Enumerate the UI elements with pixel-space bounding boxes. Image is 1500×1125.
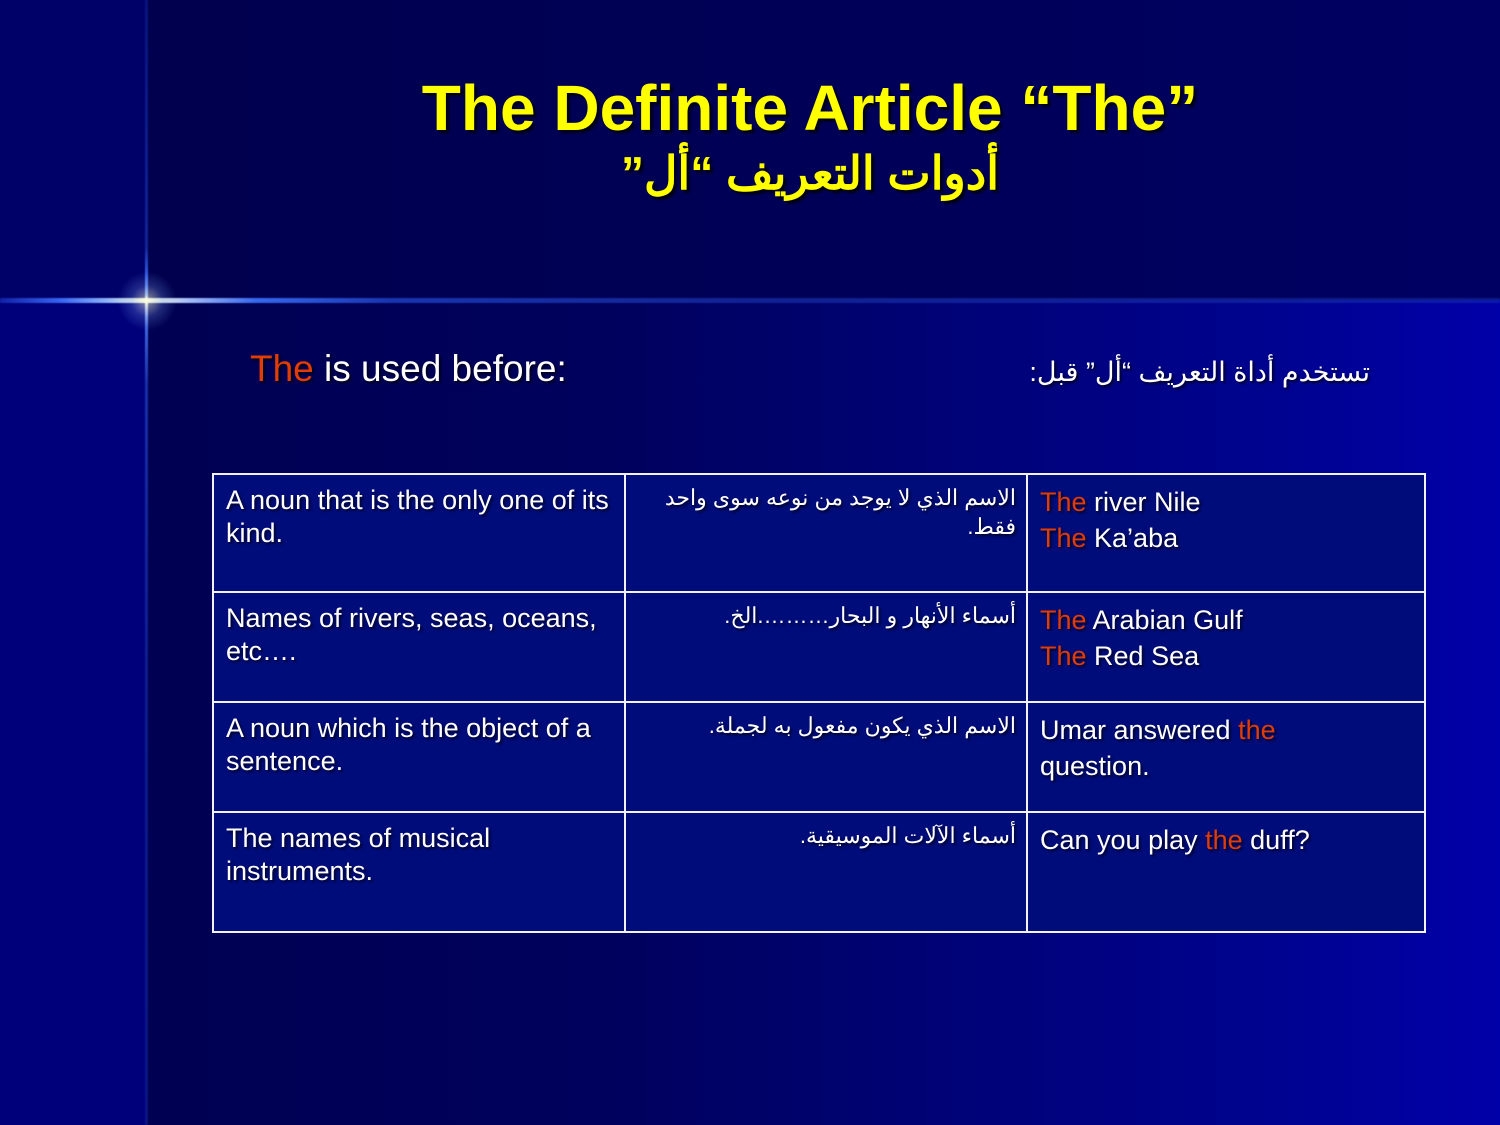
example-pre: Umar answered <box>1040 715 1238 745</box>
example-line: The Arabian Gulf <box>1040 602 1414 638</box>
example-highlight: the <box>1238 715 1276 745</box>
rule-arabic: الاسم الذي يكون مفعول به لجملة. <box>625 702 1027 812</box>
example-line: The river Nile <box>1040 484 1414 520</box>
example-highlight: The <box>1040 641 1087 671</box>
table-row: A noun which is the object of a sentence… <box>213 702 1425 812</box>
rule-english: Names of rivers, seas, oceans, etc…. <box>213 592 625 702</box>
rule-english: A noun which is the object of a sentence… <box>213 702 625 812</box>
example-line: The Red Sea <box>1040 638 1414 674</box>
page-title: The Definite Article “The” <box>160 76 1460 141</box>
rule-example: The river Nile The Ka’aba <box>1027 474 1425 592</box>
example-highlight: The <box>1040 487 1087 517</box>
example-line: Can you play the duff? <box>1040 822 1414 858</box>
intro-row: The is used before: تستخدم أداة التعريف … <box>250 348 1370 390</box>
rule-english: A noun that is the only one of its kind. <box>213 474 625 592</box>
decorative-star-glow <box>118 272 176 330</box>
example-rest: river Nile <box>1087 487 1201 517</box>
intro-text-english: The is used before: <box>250 348 567 390</box>
example-highlight: The <box>1040 523 1087 553</box>
rule-arabic: الاسم الذي لا يوجد من نوعه سوى واحد فقط. <box>625 474 1027 592</box>
rule-example: The Arabian Gulf The Red Sea <box>1027 592 1425 702</box>
example-highlight: the <box>1205 825 1243 855</box>
example-highlight: The <box>1040 605 1087 635</box>
intro-text-arabic: تستخدم أداة التعريف “أل” قبل: <box>1029 357 1370 388</box>
intro-rest: is used before: <box>314 348 567 389</box>
example-line: Umar answered the <box>1040 712 1414 748</box>
slide: The Definite Article “The” أدوات التعريف… <box>0 0 1500 1125</box>
rule-example: Can you play the duff? <box>1027 812 1425 932</box>
decorative-vertical-beam <box>145 0 148 1125</box>
rule-arabic: أسماء الآلات الموسيقية. <box>625 812 1027 932</box>
example-rest: Red Sea <box>1087 641 1200 671</box>
example-line: question. <box>1040 748 1414 784</box>
rule-example: Umar answered the question. <box>1027 702 1425 812</box>
example-line: The Ka’aba <box>1040 520 1414 556</box>
page-title-arabic: أدوات التعريف “أل” <box>160 145 1460 203</box>
intro-highlight-the: The <box>250 348 314 389</box>
rule-english: The names of musical instruments. <box>213 812 625 932</box>
decorative-horizontal-beam <box>0 298 1500 303</box>
table-row: A noun that is the only one of its kind.… <box>213 474 1425 592</box>
example-pre: question. <box>1040 751 1150 781</box>
table-row: Names of rivers, seas, oceans, etc…. أسم… <box>213 592 1425 702</box>
rules-table: A noun that is the only one of its kind.… <box>212 473 1426 933</box>
table-row: The names of musical instruments. أسماء … <box>213 812 1425 932</box>
example-pre: Can you play <box>1040 825 1205 855</box>
title-block: The Definite Article “The” أدوات التعريف… <box>160 76 1460 203</box>
example-rest: Arabian Gulf <box>1087 605 1243 635</box>
example-rest: duff? <box>1243 825 1310 855</box>
rule-arabic: أسماء الأنهار و البحار……….الخ. <box>625 592 1027 702</box>
example-rest: Ka’aba <box>1087 523 1179 553</box>
